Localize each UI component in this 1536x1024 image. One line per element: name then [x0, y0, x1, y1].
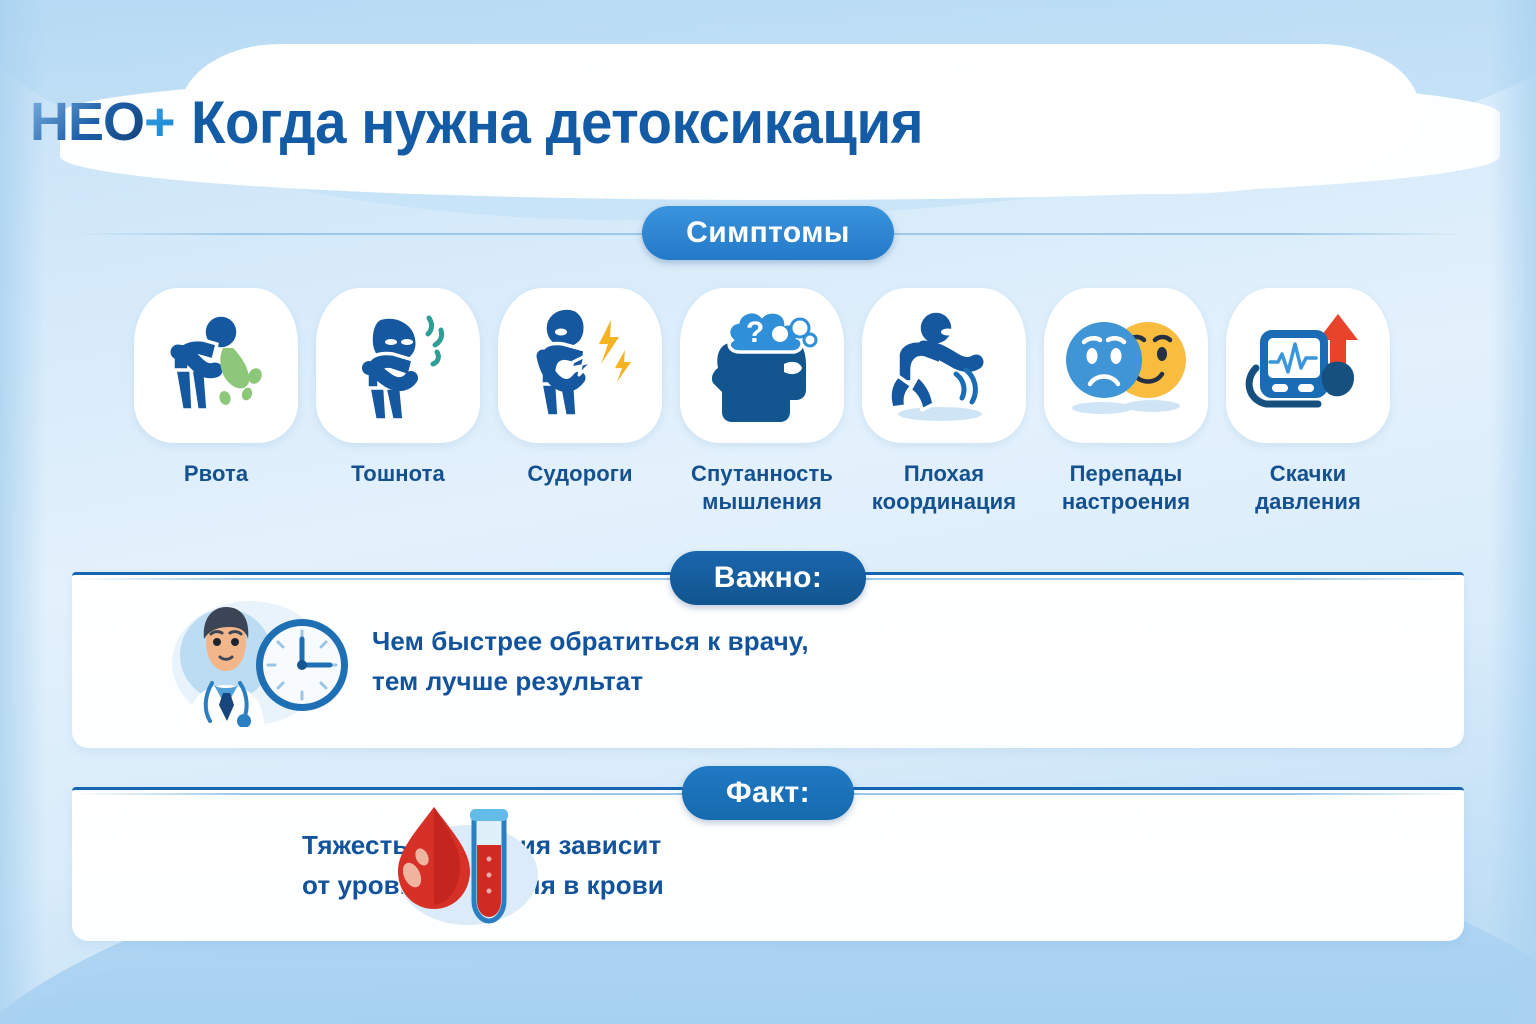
symptom-label: Плохая координация — [872, 460, 1017, 516]
symptom-item-pressure[interactable]: Скачки давления — [1226, 288, 1390, 516]
section-header-fact: Факт: — [72, 766, 1464, 820]
badge-important: Важно: — [670, 551, 866, 605]
question-mark-icon: ? — [746, 316, 764, 349]
symptom-item-coordination[interactable]: Плохая координация — [862, 288, 1026, 516]
symptom-label-line2: давления — [1255, 488, 1361, 516]
important-text-line1: Чем быстрее обратиться к врачу, — [372, 622, 809, 662]
mood-faces-icon — [1060, 306, 1192, 426]
important-text-line2: тем лучше результат — [372, 662, 809, 702]
symptom-label: Перепады настроения — [1062, 460, 1190, 516]
page-title: Когда нужна детоксикация — [191, 88, 923, 157]
section-header-important: Важно: — [72, 551, 1464, 605]
symptom-icon-card — [316, 288, 480, 443]
symptom-label: Скачки давления — [1255, 460, 1361, 516]
sad-face-icon — [1066, 322, 1142, 398]
symptom-item-mood[interactable]: Перепады настроения — [1044, 288, 1208, 516]
nauseated-person-icon — [333, 306, 463, 426]
brand-logo: HEO+ — [30, 95, 175, 149]
lightning-bolt-icon — [599, 320, 631, 382]
symptom-label-line1: Скачки — [1255, 460, 1361, 488]
vomiting-person-icon — [151, 306, 281, 426]
brand-logo-plus-icon: + — [144, 92, 175, 152]
motion-lines-icon — [956, 370, 975, 402]
infographic-root: HEO+ Когда нужна детоксикация Симптомы — [0, 0, 1536, 1024]
symptom-icon-card — [1044, 288, 1208, 443]
symptom-item-confusion[interactable]: ? Спутанность мышления — [680, 288, 844, 516]
symptom-label: Рвота — [184, 460, 248, 488]
important-text: Чем быстрее обратиться к врачу, тем лучш… — [372, 622, 809, 701]
symptom-label: Тошнота — [351, 460, 445, 488]
blood-drop-test-tube-icon — [390, 801, 550, 931]
symptom-label: Спутанность мышления — [691, 460, 833, 516]
brand-logo-text: HEO — [30, 92, 144, 152]
symptom-label: Судороги — [527, 460, 632, 488]
cramps-lightning-icon — [515, 306, 645, 426]
symptom-icon-card: ? — [680, 288, 844, 443]
confused-head-thought-icon: ? — [696, 306, 828, 426]
symptom-item-nausea[interactable]: Тошнота — [316, 288, 480, 516]
symptom-label-line2: настроения — [1062, 488, 1190, 516]
symptom-label-line1: Спутанность — [691, 460, 833, 488]
symptom-item-cramps[interactable]: Судороги — [498, 288, 662, 516]
symptoms-list: Рвота — [134, 288, 1420, 516]
symptom-icon-card — [862, 288, 1026, 443]
symptom-icon-card — [498, 288, 662, 443]
badge-symptoms: Симптомы — [642, 206, 894, 260]
section-header-symptoms: Симптомы — [72, 206, 1464, 260]
symptom-label-line2: координация — [872, 488, 1017, 516]
blood-pressure-monitor-icon — [1242, 306, 1374, 426]
symptom-label-line1: Перепады — [1062, 460, 1190, 488]
symptom-label-line1: Плохая — [872, 460, 1017, 488]
doctor-with-clock-icon — [154, 597, 374, 727]
symptom-item-vomiting[interactable]: Рвота — [134, 288, 298, 516]
symptom-icon-card — [1226, 288, 1390, 443]
page-header: HEO+ Когда нужна детоксикация — [0, 82, 1536, 162]
bulb-icon — [1322, 361, 1355, 396]
symptom-label-line2: мышления — [691, 488, 833, 516]
symptom-icon-card — [134, 288, 298, 443]
badge-fact: Факт: — [682, 766, 854, 820]
stumbling-person-icon — [878, 306, 1010, 426]
